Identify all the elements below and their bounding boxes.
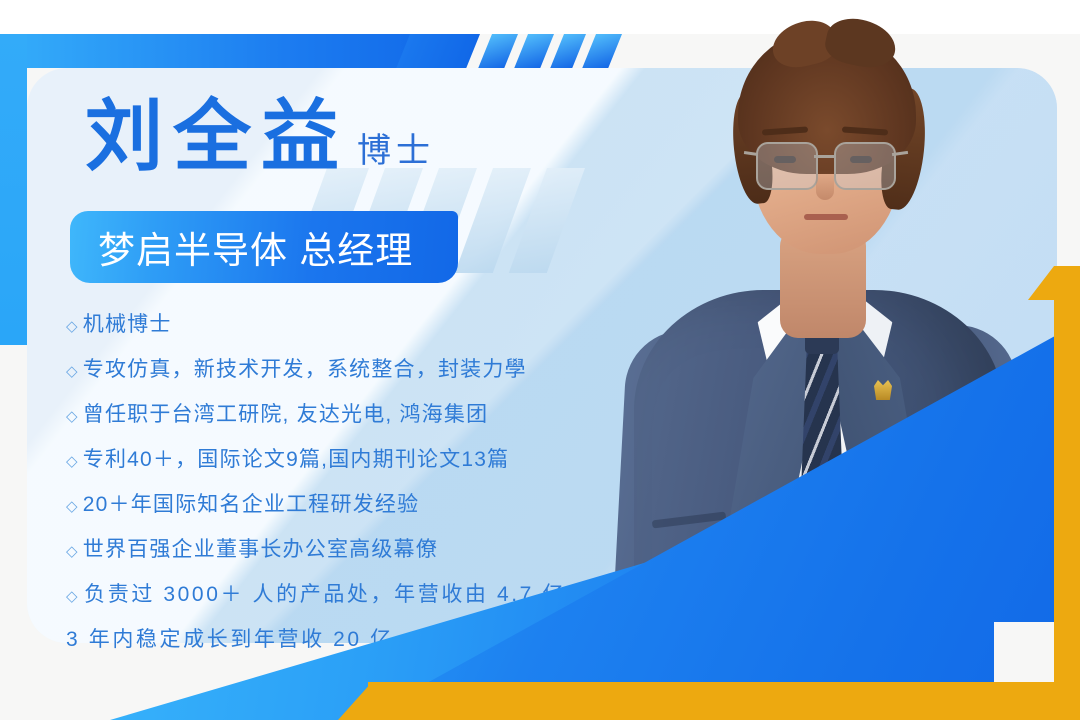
top-bar-stripe-2 <box>514 34 554 68</box>
diamond-bullet-icon: ◇ <box>66 409 79 424</box>
top-bar-stripe-3 <box>550 34 586 68</box>
diamond-bullet-icon: ◇ <box>66 454 79 469</box>
list-item: ◇ 专利40＋，国际论文9篇,国内期刊论文13篇 <box>66 443 666 488</box>
list-item-text: 专攻仿真，新技术开发，系统整合，封装力學 <box>83 353 527 383</box>
left-cyan-bar <box>0 34 27 345</box>
diamond-bullet-icon: ◇ <box>66 364 79 379</box>
list-item: ◇ 20＋年国际知名企业工程研发经验 <box>66 488 666 533</box>
list-item-text: 曾任职于台湾工研院, 友达光电, 鸿海集团 <box>83 398 489 428</box>
glasses-bridge <box>814 155 834 158</box>
person-name-row: 刘全益 博士 <box>85 98 435 176</box>
title-badge-label: 梦启半导体 总经理 <box>98 220 413 274</box>
list-item: ◇ 专攻仿真，新技术开发，系统整合，封装力學 <box>66 353 666 398</box>
nose <box>816 170 834 200</box>
mouth <box>804 214 848 220</box>
person-name: 刘全益 <box>85 98 349 176</box>
diamond-bullet-icon: ◇ <box>66 499 79 514</box>
bottom-yellow-bar <box>368 682 1080 720</box>
bottom-right-notch <box>994 622 1054 682</box>
diamond-bullet-icon: ◇ <box>66 544 79 559</box>
list-item-text: 世界百强企业董事长办公室高级幕僚 <box>83 533 438 563</box>
top-blue-bar <box>0 34 460 68</box>
glasses-lens-left <box>756 142 818 190</box>
list-item-text: 20＋年国际知名企业工程研发经验 <box>83 488 420 518</box>
list-item-continuation-text: 3 年内稳定成长到年营收 20 亿 <box>66 623 394 653</box>
profile-card: 刘全益 博士 梦启半导体 总经理 ◇ 机械博士 ◇ 专攻仿真，新技术开发，系统整… <box>0 0 1080 720</box>
person-name-suffix: 博士 <box>357 123 435 172</box>
glasses-lens-right <box>834 142 896 190</box>
diamond-bullet-icon: ◇ <box>66 589 80 604</box>
top-blue-bar-skew-end <box>396 34 480 68</box>
list-item: ◇ 世界百强企业董事长办公室高级幕僚 <box>66 533 666 578</box>
list-item-text: 专利40＋，国际论文9篇,国内期刊论文13篇 <box>83 443 510 473</box>
list-item: ◇ 机械博士 <box>66 308 666 353</box>
top-bar-stripe-1 <box>478 34 518 68</box>
title-badge: 梦启半导体 总经理 <box>70 211 458 283</box>
right-yellow-bar <box>1054 266 1080 720</box>
list-item-text: 机械博士 <box>83 308 172 338</box>
list-item-text: 负责过 3000＋ 人的产品处，年营收由 4.7 亿 <box>84 578 566 608</box>
list-item: ◇ 曾任职于台湾工研院, 友达光电, 鸿海集团 <box>66 398 666 443</box>
diamond-bullet-icon: ◇ <box>66 319 79 334</box>
